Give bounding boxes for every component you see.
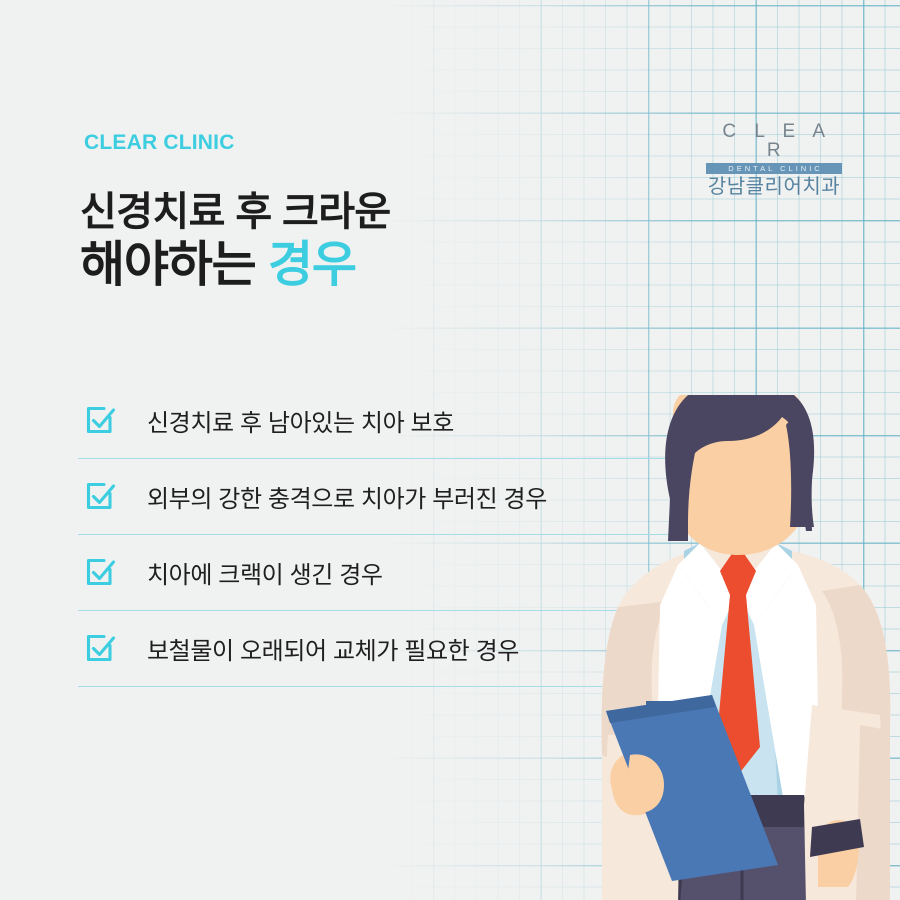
clipboard-clip-tab <box>646 701 682 711</box>
checkbox-checked-icon <box>84 404 118 438</box>
clinic-logo: C L E A R DENTAL CLINIC 강남클리어치과 <box>706 122 842 198</box>
checkbox-checked-icon <box>84 632 118 666</box>
list-item-label: 치아에 크랙이 생긴 경우 <box>147 555 383 590</box>
title-line-1: 신경치료 후 크라운 <box>80 190 640 235</box>
list-item-label: 외부의 강한 충격으로 치아가 부러진 경우 <box>147 479 547 514</box>
promotional-card: C L E A R DENTAL CLINIC 강남클리어치과 CLEAR CL… <box>0 0 900 900</box>
page-title: 신경치료 후 크라운 해야하는 경우 <box>80 190 640 295</box>
list-item-label: 보철물이 오래되어 교체가 필요한 경우 <box>147 631 519 666</box>
title-line-2-accent: 경우 <box>268 238 356 292</box>
title-line-2-plain: 해야하는 <box>80 238 268 292</box>
brand-eyebrow: CLEAR CLINIC <box>84 131 235 155</box>
checkbox-checked-icon <box>84 556 118 590</box>
checkbox-checked-icon <box>84 480 118 514</box>
dentist-illustration <box>560 395 900 900</box>
title-line-2: 해야하는 경우 <box>80 237 640 295</box>
logo-wordmark: C L E A R <box>706 122 842 160</box>
list-item-label: 신경치료 후 남아있는 치아 보호 <box>147 403 454 438</box>
logo-korean-name: 강남클리어치과 <box>706 177 842 198</box>
logo-subtitle: DENTAL CLINIC <box>706 163 842 174</box>
